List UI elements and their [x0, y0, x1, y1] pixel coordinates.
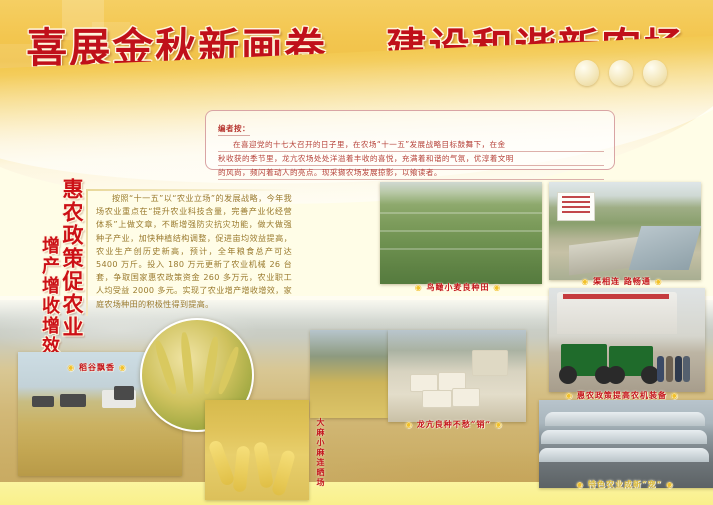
caption-rice-harvest-text: 稻谷飘香	[79, 362, 115, 372]
photo-tractors	[549, 288, 705, 392]
caption-dot-icon: ◉	[405, 419, 413, 429]
caption-dot-icon: ◉	[655, 276, 663, 286]
caption-canal-road: ◉ 渠相连 路畅通 ◉	[549, 276, 695, 287]
article-horizontal-rule	[86, 189, 296, 191]
caption-wheat-aerial-text: 鸟瞰小麦良种田	[427, 282, 490, 292]
caption-corn-drying-text: 大麻小麻连晒场	[316, 418, 326, 488]
caption-wheat-aerial: ◉ 鸟瞰小麦良种田 ◉	[380, 282, 536, 293]
photo-corn-drying	[205, 400, 309, 500]
photo-canal-road-image	[549, 182, 701, 280]
caption-corn-drying: 大麻小麻连晒场	[316, 418, 327, 488]
caption-canal-road-text: 渠相连 路畅通	[593, 276, 651, 286]
editor-note-line: 在喜迎党的十七大召开的日子里，在农场“十一五”发展战略目标鼓舞下，在金	[218, 139, 604, 152]
photo-canal-road	[549, 182, 701, 280]
caption-dot-icon: ◉	[576, 479, 584, 489]
caption-dot-icon: ◉	[565, 390, 573, 400]
editor-note-line: 的风尚，频闪着动人的亮点。现采撷农场发展掠影，以飨读者。	[218, 167, 604, 180]
caption-dot-icon: ◉	[67, 362, 75, 372]
photo-corn-pile	[310, 330, 388, 418]
photo-tractors-image	[549, 288, 705, 392]
caption-grain-bags: ◉ 龙亢良种不愁“销” ◉	[388, 419, 520, 430]
photo-wheat-aerial-image	[380, 182, 542, 284]
caption-tractors-text: 惠农政策提高农机装备	[577, 390, 667, 400]
photo-corn-drying-image	[205, 400, 309, 500]
photo-wheat-aerial	[380, 182, 542, 284]
caption-grain-bags-text: 龙亢良种不愁“销”	[417, 419, 491, 429]
caption-dot-icon: ◉	[581, 276, 589, 286]
photo-corn-pile-image	[310, 330, 388, 418]
caption-dot-icon: ◉	[493, 282, 501, 292]
vertical-headline-line2: 增产增收增效	[36, 236, 62, 356]
photo-grain-bags	[388, 330, 526, 422]
editor-note-label: 编者按：	[218, 123, 250, 136]
photo-grain-bags-image	[388, 330, 526, 422]
caption-dot-icon: ◉	[119, 362, 127, 372]
pearl-decoration-icon	[575, 60, 695, 90]
caption-dot-icon: ◉	[671, 390, 679, 400]
caption-dot-icon: ◉	[415, 282, 423, 292]
photo-greenhouse-image	[539, 400, 713, 488]
editor-note-box: 编者按： 在喜迎党的十七大召开的日子里，在农场“十一五”发展战略目标鼓舞下，在金…	[205, 110, 615, 170]
photo-greenhouse	[539, 400, 713, 488]
caption-greenhouse-text: 特色农业成新“宠”	[588, 479, 662, 489]
editor-note-line: 秋收获的季节里，龙亢农场处处洋溢着丰收的喜悦，充满着和谐的气氛，优淳着文明	[218, 153, 604, 166]
caption-greenhouse: ◉ 特色农业成新“宠” ◉	[539, 479, 711, 490]
billboard-sign-icon	[557, 192, 595, 221]
poster-board: 喜展金秋新画卷 建设和谐新农场 编者按： 在喜迎党的十七大召开的日子里，在农场“…	[0, 0, 713, 505]
article-body: 按照“十一五”以“农业立场”的发展战略，今年我场农业重点在“提升农业科技含量，完…	[96, 192, 292, 311]
caption-dot-icon: ◉	[495, 419, 503, 429]
article-paragraph: 按照“十一五”以“农业立场”的发展战略，今年我场农业重点在“提升农业科技含量，完…	[96, 192, 292, 311]
caption-dot-icon: ◉	[666, 479, 674, 489]
article-vertical-rule	[86, 190, 88, 316]
editor-note-body: 在喜迎党的十七大召开的日子里，在农场“十一五”发展战略目标鼓舞下，在金 秋收获的…	[218, 139, 604, 180]
